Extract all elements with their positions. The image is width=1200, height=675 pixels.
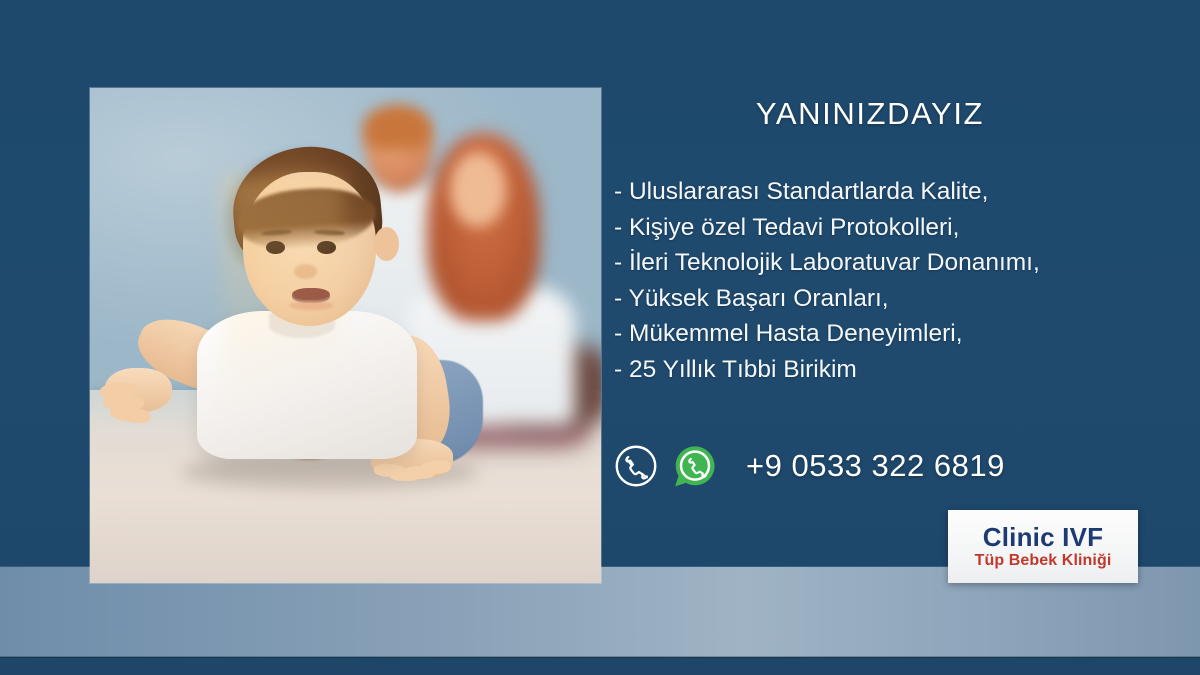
photo-mother-face: [450, 152, 506, 226]
clinic-logo[interactable]: Clinic IVF Tüp Bebek Kliniği: [948, 510, 1138, 583]
band-hairline-bottom: [0, 656, 1200, 658]
list-item: - Uluslararası Standartlarda Kalite,: [614, 174, 1174, 210]
contact-row[interactable]: +9 0533 322 6819: [614, 443, 1005, 489]
phone-number[interactable]: +9 0533 322 6819: [746, 448, 1005, 484]
whatsapp-icon[interactable]: [672, 443, 718, 489]
photo-father-hair: [363, 105, 432, 150]
photo-baby-lower-lip: [289, 301, 332, 310]
logo-secondary-text: Tüp Bebek Kliniği: [975, 553, 1112, 569]
photo-scene: [90, 88, 601, 583]
phone-circle-icon[interactable]: [614, 444, 658, 488]
photo-baby-ear: [374, 227, 400, 262]
list-item: - 25 Yıllık Tıbbi Birikim: [614, 352, 1174, 388]
banner-canvas: YANINIZDAYIZ - Uluslararası Standartlard…: [0, 0, 1200, 675]
list-item: - Mükemmel Hasta Deneyimleri,: [614, 316, 1174, 352]
photo-baby-eye: [266, 241, 284, 254]
photo-baby-nose: [294, 264, 317, 279]
page-title: YANINIZDAYIZ: [610, 96, 1130, 132]
feature-list: - Uluslararası Standartlarda Kalite, - K…: [614, 174, 1174, 387]
list-item: - Yüksek Başarı Oranları,: [614, 281, 1174, 317]
list-item: - Kişiye özel Tedavi Protokolleri,: [614, 210, 1174, 246]
baby-photo: [90, 88, 601, 583]
list-item: - İleri Teknolojik Laboratuvar Donanımı,: [614, 245, 1174, 281]
logo-primary-text: Clinic IVF: [983, 524, 1103, 550]
